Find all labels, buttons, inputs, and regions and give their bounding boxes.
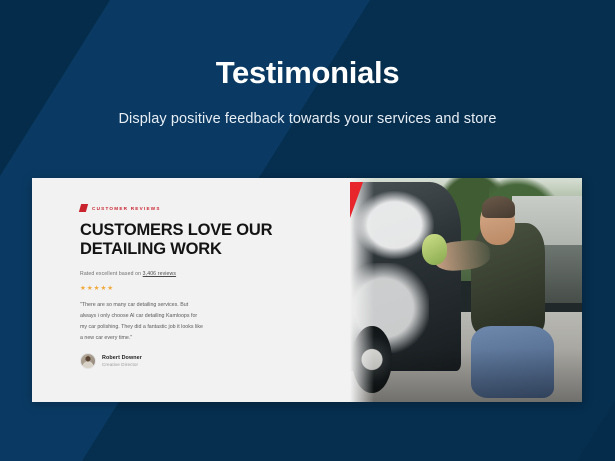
testimonial-content: CUSTOMER REVIEWS CUSTOMERS LOVE OUR DETA… [32,178,350,402]
testimonial-headline: CUSTOMERS LOVE OUR DETAILING WORK [80,221,310,259]
flag-icon [79,204,88,212]
page-subtitle: Display positive feedback towards your s… [0,111,615,127]
photo-wall-shadow [540,245,582,303]
testimonial-author: Robert Downer Creative Director [80,353,350,369]
star-rating-icon: ★★★★★ [80,284,350,292]
testimonial-quote: "There are so many car detailing service… [80,300,205,344]
photo-ground-shadow [350,348,582,402]
testimonial-photo-panel [350,178,582,402]
page-header: Testimonials Display positive feedback t… [0,0,615,127]
page-title: Testimonials [0,56,615,90]
rating-summary: Rated excellent based on 3,406 reviews [80,271,350,277]
author-details: Robert Downer Creative Director [102,355,142,368]
rating-summary-prefix: Rated excellent based on [80,271,141,277]
avatar [80,353,96,369]
testimonial-photo [350,178,582,402]
eyebrow-label: CUSTOMER REVIEWS [92,206,161,211]
rating-review-count-link[interactable]: 3,406 reviews [143,271,176,277]
photo-person-hair [482,196,514,218]
author-role: Creative Director [102,362,142,367]
photo-edge-fade [350,178,374,402]
photo-sponge [422,234,448,265]
testimonial-card: CUSTOMER REVIEWS CUSTOMERS LOVE OUR DETA… [32,178,582,402]
author-name: Robert Downer [102,355,142,361]
eyebrow: CUSTOMER REVIEWS [80,204,350,212]
